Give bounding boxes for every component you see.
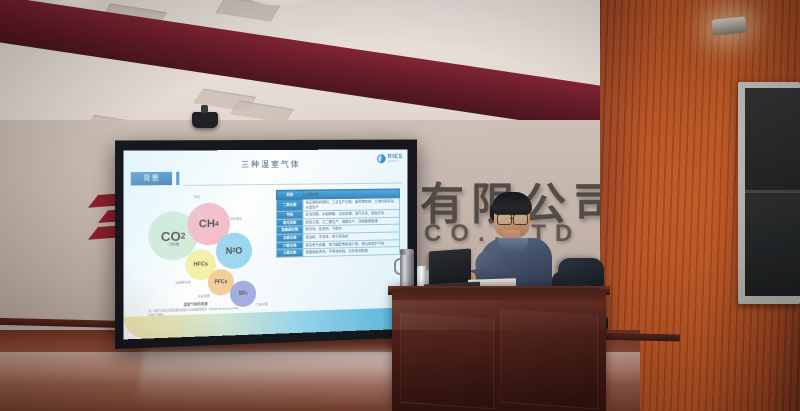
bubble-pfcs-label: PFCs: [214, 279, 227, 285]
table-cell-category: 二氧化碳: [276, 199, 303, 212]
bubble-co2-caption: 二氧化碳: [148, 241, 197, 246]
projection-screen: RIES ENERGY 背景 三种温室气体 CO2 二氧化碳 CH4 N2O: [123, 149, 407, 339]
wall-recess-panel: [745, 88, 800, 296]
bubble-mini-label-n2o: 氧化亚氮: [230, 216, 242, 220]
ries-logo-icon: [377, 154, 386, 163]
slide-logo-subtext: ENERGY: [388, 160, 403, 163]
bubble-ch4-sub: 4: [215, 220, 219, 227]
presenter-hair: [492, 192, 532, 215]
table-header-category: 类别: [276, 190, 303, 199]
glasses-icon: [513, 214, 528, 225]
table-row: 三氟化氮 液晶面板清洗、半导体刻蚀、光伏电池制造: [276, 247, 399, 257]
podium-highlight: [392, 300, 606, 330]
glasses-icon: [497, 214, 512, 225]
slide-title-rule: [183, 183, 401, 186]
bubble-mini-label-sf6: 六氟化硫: [256, 302, 268, 306]
bubble-sf6-label: SF: [239, 291, 246, 297]
greenhouse-gas-bubble-diagram: CO2 二氧化碳 CH4 N2O HFCs PFCs SF6 甲烷: [148, 192, 289, 318]
thermos-flask: [400, 253, 414, 289]
bubble-sf6-sub: 6: [246, 292, 248, 296]
bubble-hfcs-label: HFCs: [193, 261, 208, 267]
bubble-co2-sub: 2: [181, 231, 186, 240]
ceiling-projector: [192, 112, 218, 128]
bubble-n2o: N2O: [216, 232, 252, 269]
glasses-bridge: [510, 218, 513, 219]
bubble-mini-label-hfcs: 氢氟碳化物: [175, 280, 190, 284]
bubble-mini-label-ch4: 甲烷: [194, 195, 200, 199]
thermos-cap: [400, 249, 414, 255]
table-cell-source: 液晶面板清洗、半导体刻蚀、光伏电池制造: [303, 247, 399, 257]
gas-source-table: 类别 主要来源 二氧化碳 化石燃料的燃料、工业生产过程、废弃物焚烧、土地利用变化…: [276, 188, 400, 257]
slide-title: 三种温室气体: [185, 158, 354, 170]
bubble-mini-label-pfcs: 全氟化碳: [198, 294, 210, 298]
table-cell-category: 三氟化氮: [276, 249, 303, 257]
bubble-n2o-o: O: [235, 246, 242, 256]
slide-tab-accent: [176, 172, 179, 185]
presentation-slide: RIES ENERGY 背景 三种温室气体 CO2 二氧化碳 CH4 N2O: [123, 149, 407, 339]
slide-section-tab: 背景: [131, 172, 172, 186]
conference-room-photo: 有限公司 CO.,LTD RIES ENERGY 背景 三种温室气体: [0, 0, 800, 411]
bubble-ch4-label: CH: [199, 218, 215, 230]
slide-logo: RIES ENERGY: [377, 154, 403, 163]
